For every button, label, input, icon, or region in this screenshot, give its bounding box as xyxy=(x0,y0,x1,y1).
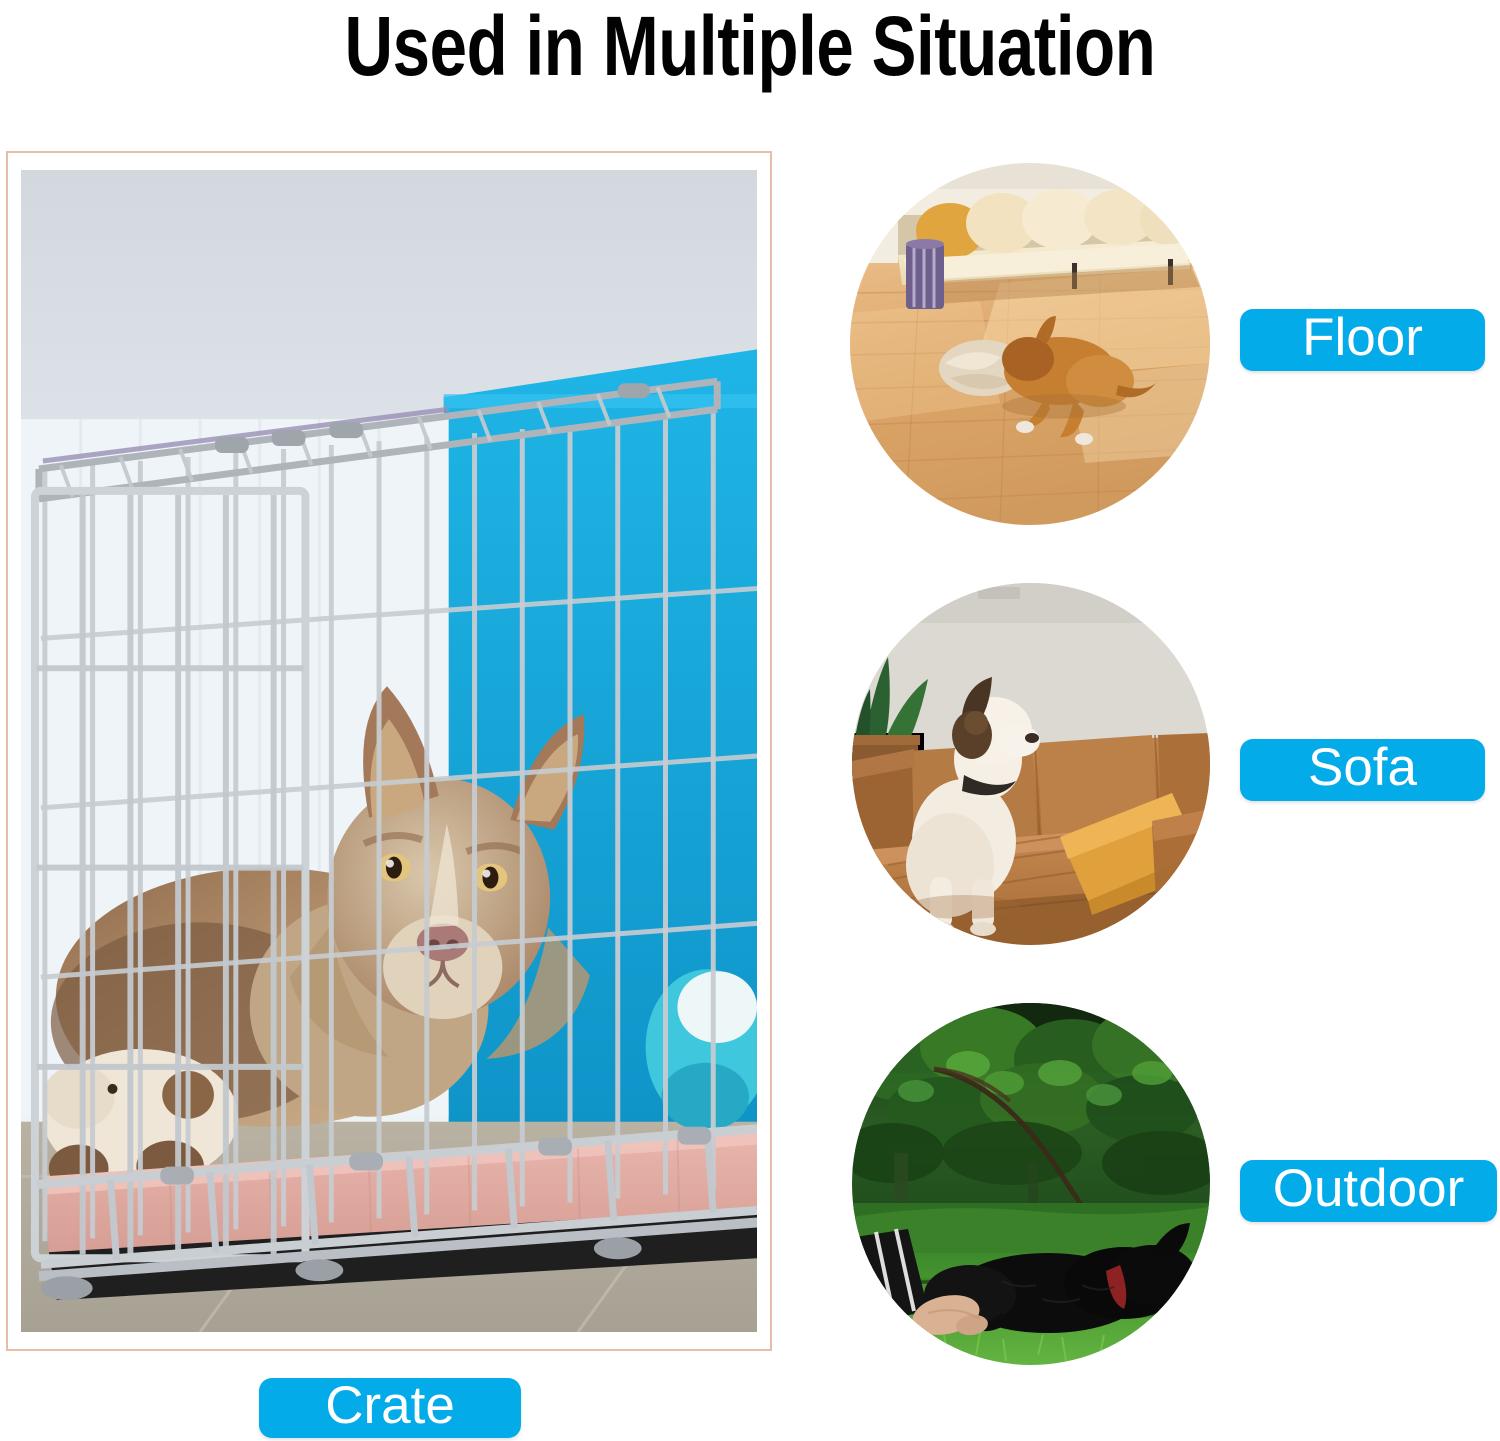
crate-scene-illustration xyxy=(21,170,757,1332)
badge-sofa-label: Sofa xyxy=(1308,741,1417,794)
badge-floor-label: Floor xyxy=(1302,311,1423,364)
outdoor-scene-illustration xyxy=(852,1003,1210,1365)
thumbnail-sofa[interactable] xyxy=(852,583,1210,945)
badge-floor[interactable]: Floor xyxy=(1240,309,1485,371)
page-title: Used in Multiple Situation xyxy=(150,0,1350,98)
infographic-page: Used in Multiple Situation xyxy=(0,0,1500,1441)
badge-crate-label: Crate xyxy=(325,1379,455,1432)
thumbnail-outdoor[interactable] xyxy=(852,1003,1210,1365)
crate-image-frame xyxy=(6,151,772,1351)
badge-sofa[interactable]: Sofa xyxy=(1240,739,1485,801)
badge-outdoor[interactable]: Outdoor xyxy=(1240,1160,1497,1222)
floor-scene-illustration xyxy=(850,163,1210,525)
thumbnail-floor[interactable] xyxy=(850,163,1210,525)
badge-crate[interactable]: Crate xyxy=(259,1378,521,1438)
badge-outdoor-label: Outdoor xyxy=(1273,1162,1465,1215)
crate-scene-photo xyxy=(21,170,757,1332)
sofa-scene-illustration xyxy=(852,583,1210,945)
